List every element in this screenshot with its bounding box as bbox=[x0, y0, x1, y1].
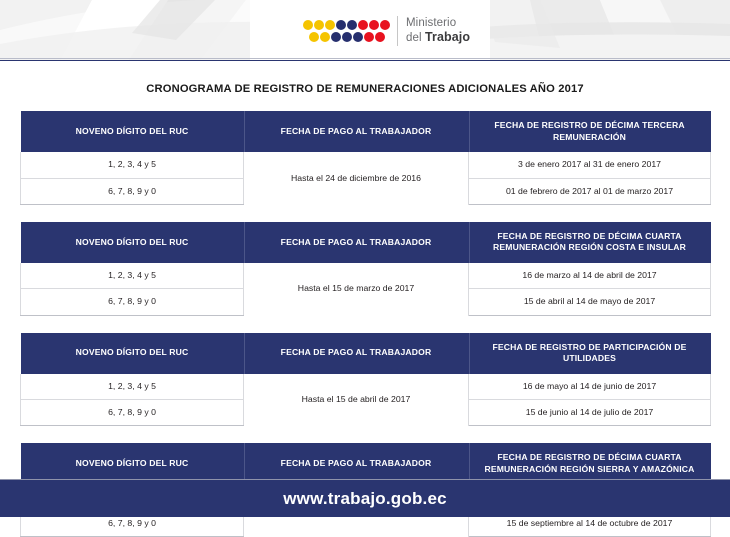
logo-dot-blue bbox=[336, 20, 346, 30]
banner-hairline-divider bbox=[0, 58, 730, 59]
cell-registration-date: 15 de junio al 14 de julio de 2017 bbox=[469, 400, 711, 426]
cell-ruc: 1, 2, 3, 4 y 5 bbox=[21, 152, 244, 178]
table-header-row: NOVENO DÍGITO DEL RUC FECHA DE PAGO AL T… bbox=[21, 222, 711, 263]
logo-wordmark: Ministerio del Trabajo bbox=[406, 17, 470, 45]
cell-payment-date: Hasta el 15 de abril de 2017 bbox=[244, 374, 469, 426]
col-header-ruc: NOVENO DÍGITO DEL RUC bbox=[21, 333, 244, 374]
document-body: CRONOGRAMA DE REGISTRO DE REMUNERACIONES… bbox=[0, 61, 730, 480]
col-header-payment-date: FECHA DE PAGO AL TRABAJADOR bbox=[244, 111, 469, 152]
cell-payment-date: Hasta el 15 de marzo de 2017 bbox=[244, 263, 469, 315]
col-header-registration-date: FECHA DE REGISTRO DE DÉCIMA TERCERA REMU… bbox=[469, 111, 711, 152]
logo-dot-yellow bbox=[309, 32, 319, 42]
logo-dot-blue bbox=[331, 32, 341, 42]
logo-dot-row-top bbox=[303, 20, 390, 30]
logo-dot-red bbox=[380, 20, 390, 30]
footer-website-url[interactable]: www.trabajo.gob.ec bbox=[283, 489, 447, 509]
table-row: 1, 2, 3, 4 y 5 Hasta el 15 de abril de 2… bbox=[21, 374, 711, 400]
logo-dot-yellow bbox=[320, 32, 330, 42]
cell-registration-date: 3 de enero 2017 al 31 de enero 2017 bbox=[469, 152, 711, 178]
logo-separator bbox=[397, 16, 398, 46]
cell-ruc: 6, 7, 8, 9 y 0 bbox=[21, 400, 244, 426]
logo-dot-red bbox=[364, 32, 374, 42]
table-header-row: NOVENO DÍGITO DEL RUC FECHA DE PAGO AL T… bbox=[21, 333, 711, 374]
logo-dot-yellow bbox=[325, 20, 335, 30]
logo-dot-red bbox=[358, 20, 368, 30]
cell-ruc: 1, 2, 3, 4 y 5 bbox=[21, 263, 244, 289]
ministerio-del-trabajo-logo: Ministerio del Trabajo bbox=[303, 12, 470, 50]
logo-dot-red bbox=[369, 20, 379, 30]
col-header-payment-date: FECHA DE PAGO AL TRABAJADOR bbox=[244, 333, 469, 374]
schedule-tables-container: NOVENO DÍGITO DEL RUC FECHA DE PAGO AL T… bbox=[0, 111, 730, 537]
page-header-banner: Ministerio del Trabajo bbox=[0, 0, 730, 61]
col-header-registration-date: FECHA DE REGISTRO DE DÉCIMA CUARTA REMUN… bbox=[469, 222, 711, 263]
page-title: CRONOGRAMA DE REGISTRO DE REMUNERACIONES… bbox=[0, 61, 730, 95]
cell-ruc: 6, 7, 8, 9 y 0 bbox=[21, 289, 244, 315]
schedule-table-participacion-utilidades: NOVENO DÍGITO DEL RUC FECHA DE PAGO AL T… bbox=[20, 333, 711, 427]
logo-dot-blue bbox=[353, 32, 363, 42]
logo-dot-blue bbox=[342, 32, 352, 42]
logo-line-del-trabajo: del Trabajo bbox=[406, 30, 470, 45]
schedule-table-decima-tercera: NOVENO DÍGITO DEL RUC FECHA DE PAGO AL T… bbox=[20, 111, 711, 205]
col-header-payment-date: FECHA DE PAGO AL TRABAJADOR bbox=[244, 222, 469, 263]
logo-word-del: del bbox=[406, 32, 425, 44]
col-header-registration-date: FECHA DE REGISTRO DE PARTICIPACIÓN DE UT… bbox=[469, 333, 711, 374]
col-header-ruc: NOVENO DÍGITO DEL RUC bbox=[21, 111, 244, 152]
cell-registration-date: 15 de abril al 14 de mayo de 2017 bbox=[469, 289, 711, 315]
col-header-ruc: NOVENO DÍGITO DEL RUC bbox=[21, 222, 244, 263]
logo-word-trabajo: Trabajo bbox=[425, 30, 470, 44]
cell-registration-date: 16 de marzo al 14 de abril de 2017 bbox=[469, 263, 711, 289]
page-footer: www.trabajo.gob.ec bbox=[0, 480, 730, 517]
table-header-row: NOVENO DÍGITO DEL RUC FECHA DE PAGO AL T… bbox=[21, 111, 711, 152]
logo-dots-icon bbox=[303, 20, 390, 42]
cell-ruc: 6, 7, 8, 9 y 0 bbox=[21, 178, 244, 204]
cell-registration-date: 16 de mayo al 14 de junio de 2017 bbox=[469, 374, 711, 400]
schedule-table-decima-cuarta-costa: NOVENO DÍGITO DEL RUC FECHA DE PAGO AL T… bbox=[20, 222, 711, 316]
cell-registration-date: 01 de febrero de 2017 al 01 de marzo 201… bbox=[469, 178, 711, 204]
cell-ruc: 1, 2, 3, 4 y 5 bbox=[21, 374, 244, 400]
table-row: 1, 2, 3, 4 y 5 Hasta el 15 de marzo de 2… bbox=[21, 263, 711, 289]
table-row: 1, 2, 3, 4 y 5 Hasta el 24 de diciembre … bbox=[21, 152, 711, 178]
logo-dot-yellow bbox=[314, 20, 324, 30]
cell-payment-date: Hasta el 24 de diciembre de 2016 bbox=[244, 152, 469, 204]
logo-dot-red bbox=[375, 32, 385, 42]
logo-dot-yellow bbox=[303, 20, 313, 30]
logo-dot-row-bottom bbox=[303, 32, 390, 42]
logo-line-ministerio: Ministerio bbox=[406, 17, 470, 30]
logo-dot-blue bbox=[347, 20, 357, 30]
